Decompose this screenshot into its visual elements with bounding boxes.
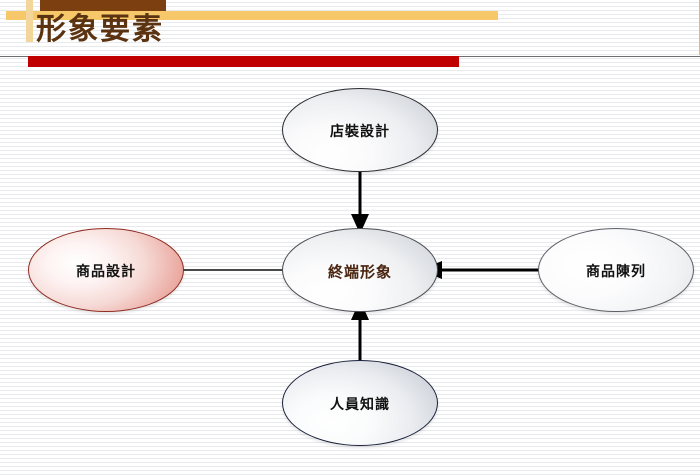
diagram-node-right-label: 商品陳列	[586, 261, 646, 281]
header-red-accent-bar	[28, 56, 459, 67]
slide-title: 形象要素	[36, 10, 164, 50]
header-vertical-accent-bar	[26, 0, 33, 42]
diagram-node-center[interactable]: 終端形象	[282, 228, 438, 312]
diagram-node-bottom[interactable]: 人員知識	[282, 360, 438, 446]
diagram-node-right[interactable]: 商品陳列	[538, 228, 694, 312]
diagram-node-bottom-label: 人員知識	[330, 394, 390, 414]
diagram-node-top[interactable]: 店裝設計	[282, 88, 438, 172]
diagram-node-left[interactable]: 商品設計	[28, 228, 184, 312]
diagram-node-left-label: 商品設計	[76, 261, 136, 281]
diagram-node-center-label: 終端形象	[328, 261, 392, 282]
slide-canvas: 形象要素 店裝設計 商品設計 終端形象 商品陳列 人員知識	[0, 0, 700, 475]
diagram-node-top-label: 店裝設計	[330, 121, 390, 141]
